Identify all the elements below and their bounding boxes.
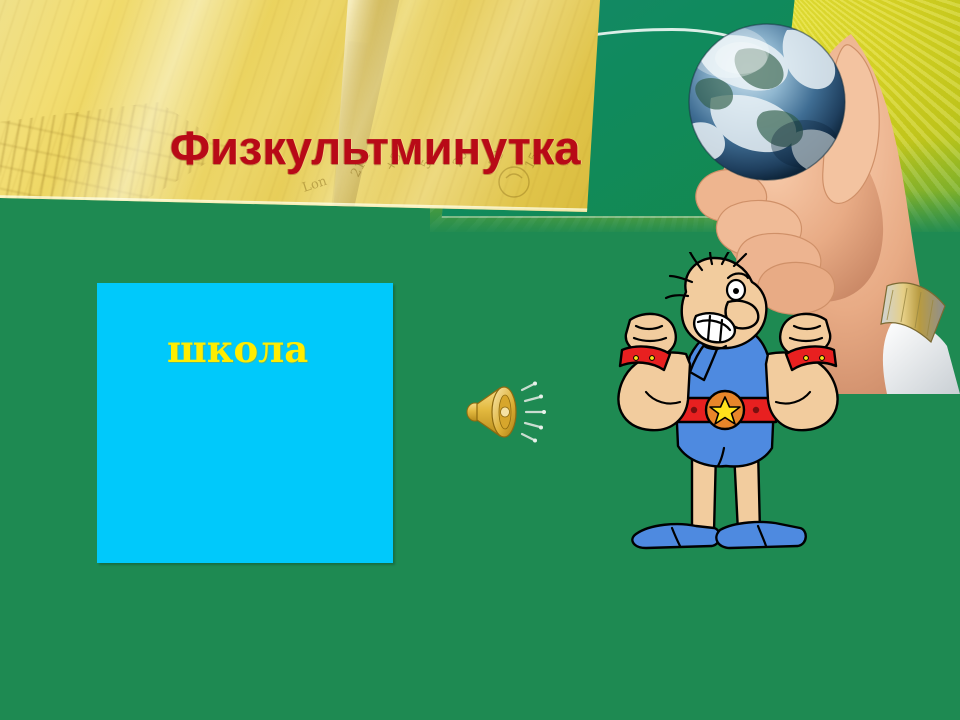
cartoon-strongman-flexing: .sk { fill:#f2cc9e; stroke:#000; stroke-… [616,252,842,572]
svg-text:Lon: Lon [301,174,330,196]
picture-placeholder-box[interactable]: школа [97,283,393,563]
page-title: Физкультминутка [170,120,581,175]
speaker-audio-icon[interactable] [464,380,550,444]
presentation-slide: Lon 21A +31 5q 20 28 15 Физкультминутка … [0,0,960,720]
gold-pen-notes-banner: Lon 21A +31 5q 20 28 15 [0,0,600,212]
earth-globe [685,24,845,180]
picture-box-label: школа [167,331,308,368]
head [666,252,766,349]
shoes [632,522,805,548]
